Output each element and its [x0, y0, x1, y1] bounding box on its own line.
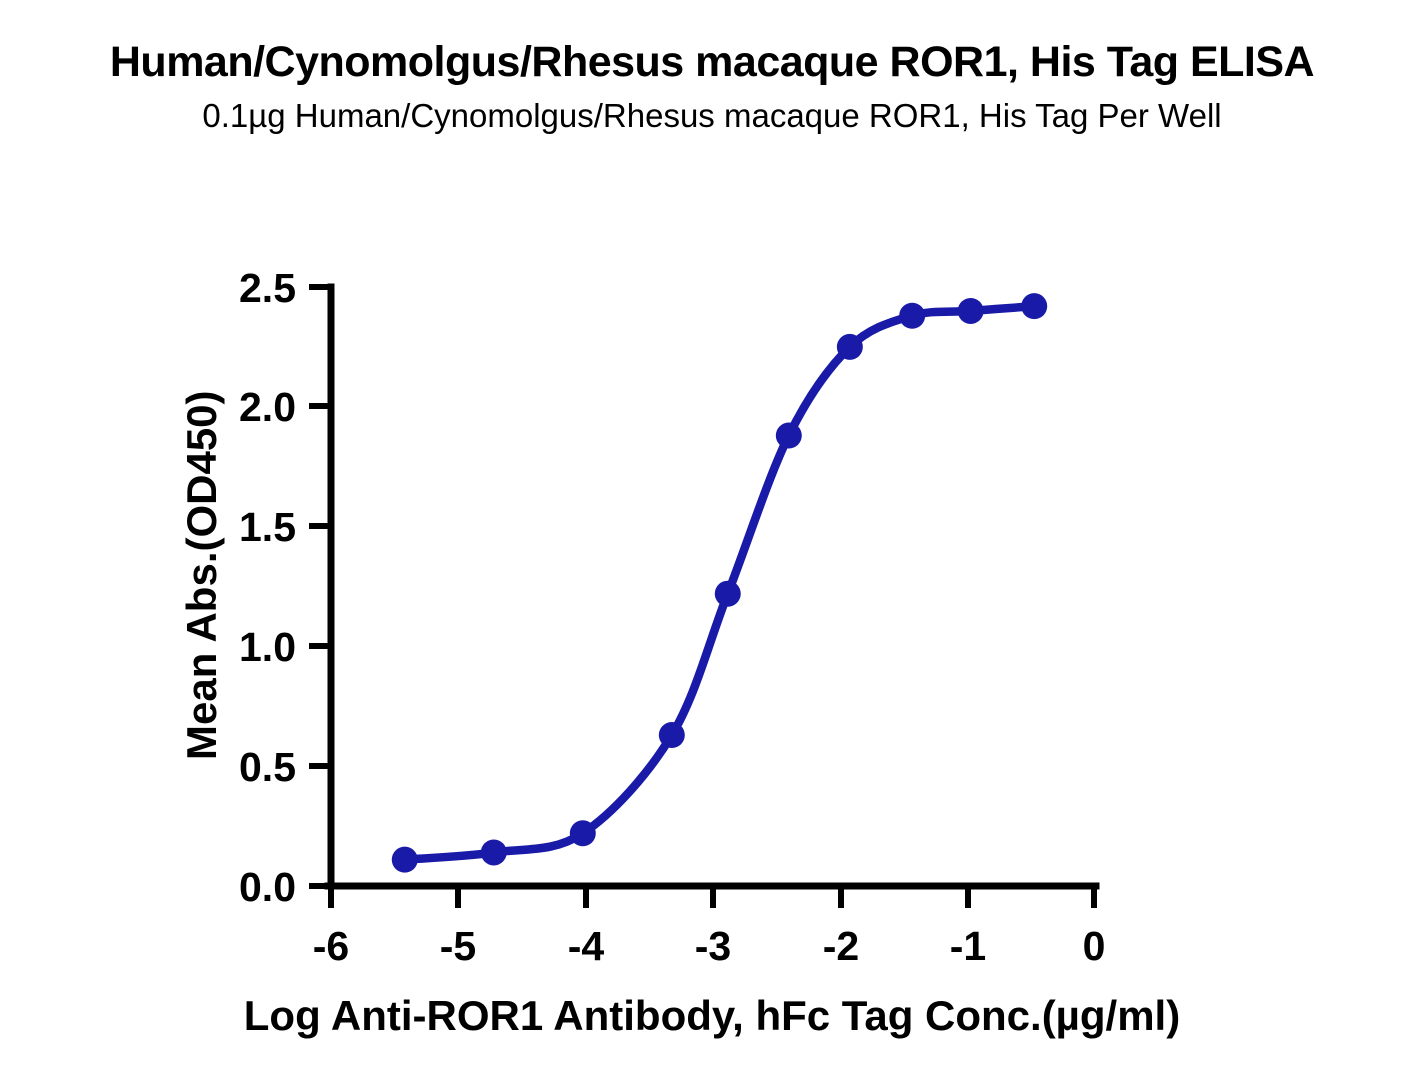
plot-area: Mean Abs.(OD450) 2.5 2.0 1.5 1.0 0.5 0.0: [0, 0, 1424, 1086]
x-tick-label--3: -3: [695, 923, 731, 969]
y-tick-label-2.5: 2.5: [239, 265, 296, 311]
series-markers: [392, 293, 1047, 872]
x-tick-label--2: -2: [823, 923, 859, 969]
y-axis-title: Mean Abs.(OD450): [178, 390, 225, 760]
data-point: [659, 722, 685, 748]
data-point: [1021, 293, 1047, 319]
data-point: [570, 820, 596, 846]
data-point: [776, 423, 802, 449]
x-tick-label--4: -4: [568, 923, 605, 969]
series-curve: [405, 306, 1034, 859]
x-tick-label--6: -6: [313, 923, 349, 969]
data-point: [481, 839, 507, 865]
data-point: [715, 581, 741, 607]
x-axis-title: Log Anti-ROR1 Antibody, hFc Tag Conc.(µg…: [244, 992, 1180, 1039]
x-tick-label-0: 0: [1083, 923, 1106, 969]
elisa-chart-figure: Human/Cynomolgus/Rhesus macaque ROR1, Hi…: [0, 0, 1424, 1086]
y-tick-label-0.0: 0.0: [239, 864, 296, 910]
x-axis-tick-labels: -6 -5 -4 -3 -2 -1 0: [313, 923, 1106, 969]
data-point: [837, 334, 863, 360]
x-tick-label--1: -1: [950, 923, 986, 969]
y-tick-label-0.5: 0.5: [239, 744, 296, 790]
x-tick-label--5: -5: [440, 923, 476, 969]
y-axis-tick-labels: 2.5 2.0 1.5 1.0 0.5 0.0: [239, 265, 296, 910]
y-tick-label-2.0: 2.0: [239, 384, 296, 430]
y-tick-label-1.0: 1.0: [239, 624, 296, 670]
data-point: [899, 303, 925, 329]
data-point: [392, 847, 418, 873]
data-point: [958, 298, 984, 324]
y-tick-label-1.5: 1.5: [239, 504, 296, 550]
